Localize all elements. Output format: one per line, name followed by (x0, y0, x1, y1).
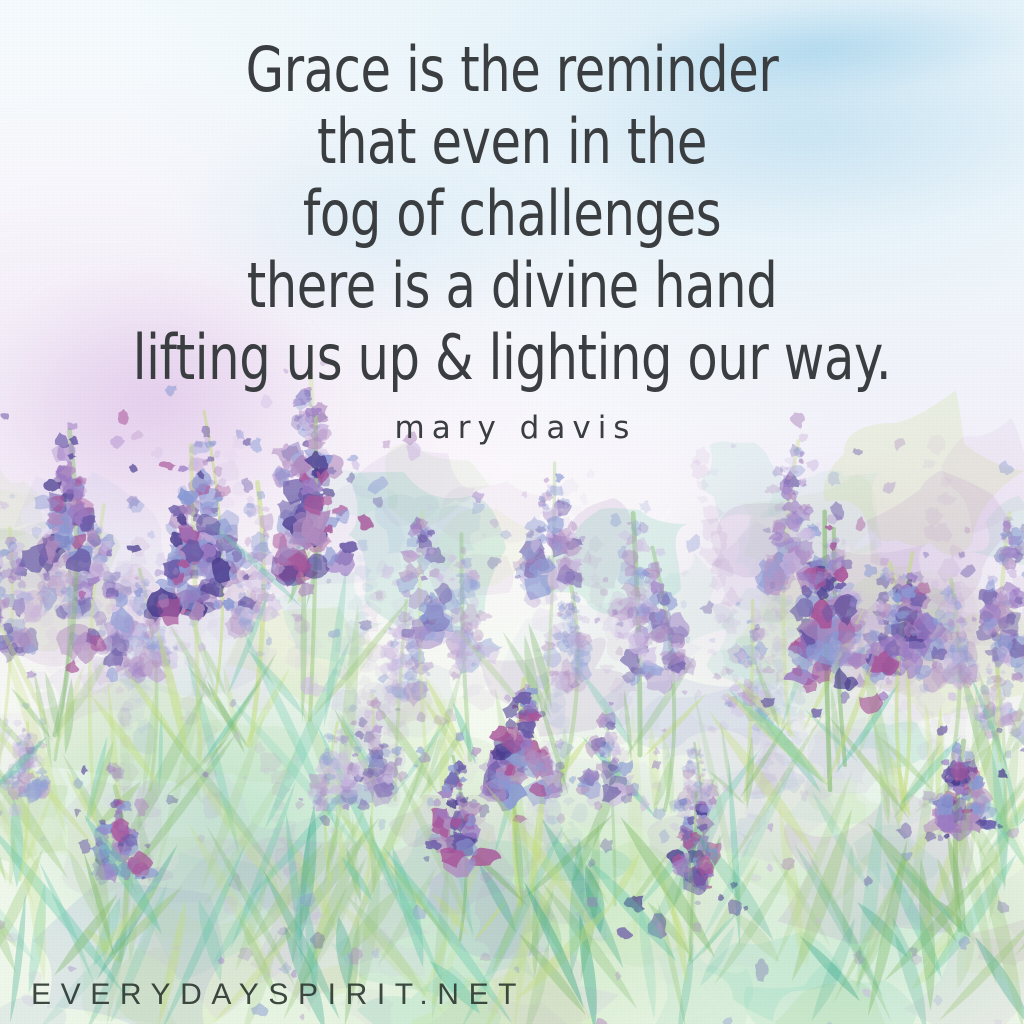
quote-author: mary davis (0, 410, 1024, 446)
quote-line-2: that even in the (102, 106, 921, 178)
quote-line-4: there is a divine hand (102, 250, 921, 322)
quote-card: Grace is the reminder that even in the f… (0, 0, 1024, 1024)
quote-line-1: Grace is the reminder (102, 34, 921, 106)
quote-line-5: lifting us up & lighting our way. (102, 322, 921, 394)
quote-text-block: Grace is the reminder that even in the f… (0, 34, 1024, 394)
quote-line-3: fog of challenges (102, 178, 921, 250)
site-watermark: EVERYDAYSPIRIT.NET (22, 978, 526, 1012)
